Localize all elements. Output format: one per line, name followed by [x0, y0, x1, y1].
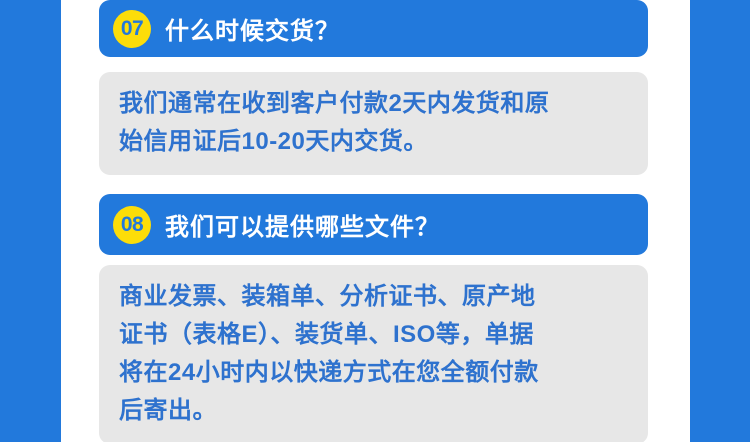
faq-question-08: 我们可以提供哪些文件？ — [165, 207, 440, 242]
left-blue-rail — [0, 0, 61, 442]
faq-header-08[interactable]: 08 我们可以提供哪些文件？ — [99, 194, 648, 255]
faq-answer-08-line-4: 后寄出。 — [119, 392, 628, 430]
faq-answer-07-line-2: 始信用证后10-20天内交货。 — [119, 123, 628, 161]
faq-header-07[interactable]: 07 什么时候交货？ — [99, 0, 648, 57]
faq-number-badge-07: 07 — [113, 10, 151, 48]
right-blue-rail — [690, 0, 750, 442]
faq-answer-08: 商业发票、装箱单、分析证书、原产地 证书（表格E）、装货单、ISO等，单据 将在… — [99, 265, 648, 442]
faq-page: 07 什么时候交货？ 我们通常在收到客户付款2天内发货和原 始信用证后10-20… — [0, 0, 750, 442]
faq-answer-08-line-3: 将在24小时内以快递方式在您全额付款 — [119, 354, 628, 392]
faq-content-column: 07 什么时候交货？ 我们通常在收到客户付款2天内发货和原 始信用证后10-20… — [99, 0, 648, 442]
faq-number-badge-08: 08 — [113, 206, 151, 244]
spacer-answer07-header08 — [99, 175, 648, 194]
spacer-header08-answer08 — [99, 255, 648, 265]
faq-answer-08-line-1: 商业发票、装箱单、分析证书、原产地 — [119, 278, 628, 316]
spacer-header07-answer07 — [99, 57, 648, 72]
faq-question-07: 什么时候交货？ — [165, 11, 340, 46]
faq-answer-07-line-1: 我们通常在收到客户付款2天内发货和原 — [119, 85, 628, 123]
faq-answer-07: 我们通常在收到客户付款2天内发货和原 始信用证后10-20天内交货。 — [99, 72, 648, 175]
faq-answer-08-line-2: 证书（表格E）、装货单、ISO等，单据 — [119, 316, 628, 354]
